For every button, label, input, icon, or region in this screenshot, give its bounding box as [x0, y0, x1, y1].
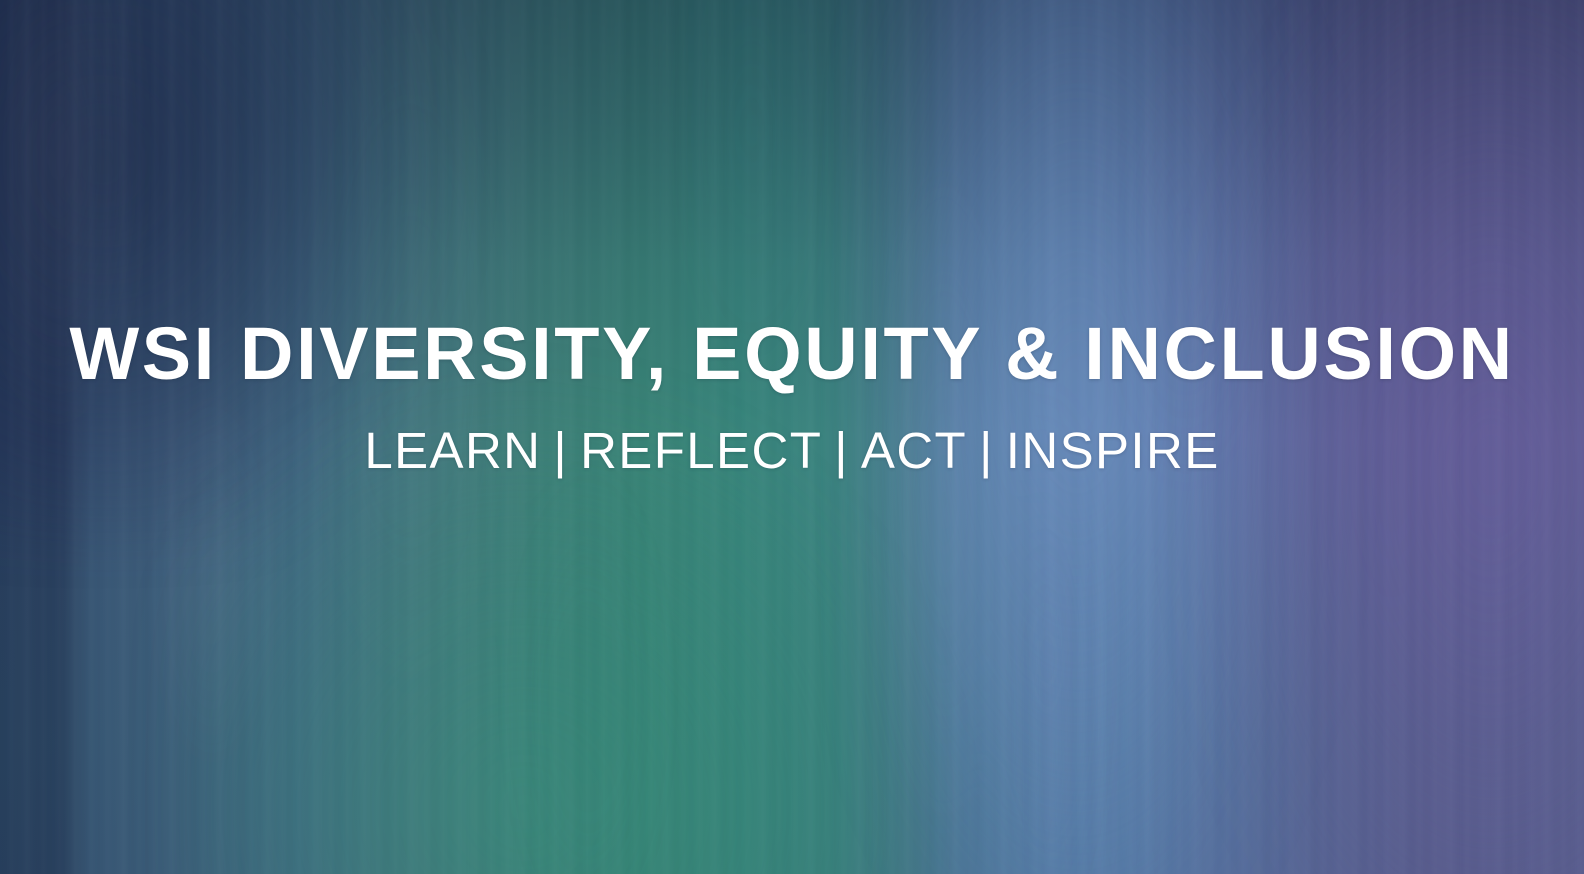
banner-headline: WSI DIVERSITY, EQUITY & INCLUSION [69, 317, 1514, 391]
tagline-separator-3: | [967, 422, 1006, 479]
banner-tagline: LEARN|REFLECT|ACT|INSPIRE [364, 425, 1219, 476]
tagline-separator-1: | [541, 422, 580, 479]
tagline-item-act: ACT [861, 422, 967, 479]
tagline-item-learn: LEARN [364, 422, 541, 479]
tagline-separator-2: | [822, 422, 861, 479]
tagline-item-reflect: REFLECT [580, 422, 822, 479]
wsi-dei-hero-banner: WSI DIVERSITY, EQUITY & INCLUSION LEARN|… [0, 0, 1584, 874]
banner-content: WSI DIVERSITY, EQUITY & INCLUSION LEARN|… [0, 0, 1584, 874]
tagline-item-inspire: INSPIRE [1006, 422, 1220, 479]
